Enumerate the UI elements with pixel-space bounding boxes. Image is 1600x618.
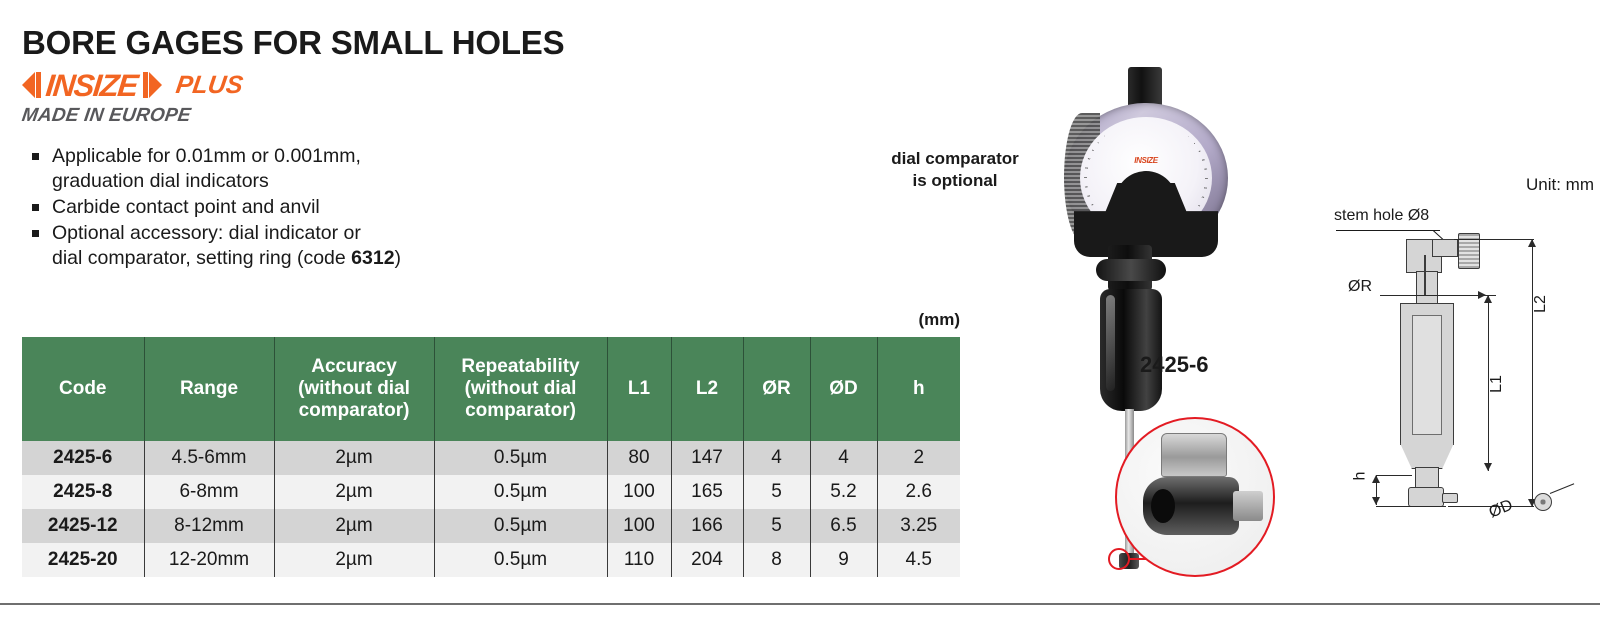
- drawing-stem-arm: [1432, 239, 1458, 257]
- cell-or: 5: [743, 509, 810, 543]
- header-line: comparator): [465, 400, 576, 421]
- table-row: 2425-12 8-12mm 2µm 0.5µm 100 166 5 6.5 3…: [22, 509, 960, 543]
- brand-plus-label: PLUS: [174, 71, 245, 100]
- cell-accuracy: 2µm: [274, 441, 434, 475]
- dimension-or-arrow: [1478, 291, 1486, 299]
- cell-code: 2425-6: [22, 441, 144, 475]
- table-unit-note: (mm): [22, 310, 960, 330]
- cell-repeatability: 0.5µm: [434, 441, 607, 475]
- drawing-unit-note: Unit: mm: [1526, 175, 1594, 195]
- list-item: Applicable for 0.01mm or 0.001mm, gradua…: [30, 144, 982, 194]
- bullet-square-icon: [32, 230, 39, 237]
- cell-l1: 100: [607, 475, 671, 509]
- dimension-label-od: ØD: [1487, 497, 1516, 523]
- list-item: Optional accessory: dial indicator or di…: [30, 221, 982, 271]
- table-body: 2425-6 4.5-6mm 2µm 0.5µm 80 147 4 4 2 24…: [22, 441, 960, 577]
- feature-line: Optional accessory: dial indicator or: [52, 222, 361, 244]
- dimension-label-l1: L1: [1488, 375, 1506, 393]
- dial-comparator-photo: INSIZE: [1056, 67, 1236, 247]
- dial-comparator-note: dial comparator is optional: [870, 148, 1040, 192]
- column-header-accuracy: Accuracy (without dial comparator): [274, 337, 434, 441]
- column-header-l2: L2: [671, 337, 743, 441]
- cell-l2: 147: [671, 441, 743, 475]
- measuring-head-detail-inset: [1115, 417, 1275, 577]
- stem-hole-leader-horizontal: [1336, 230, 1440, 231]
- column-header-repeatability: Repeatability (without dial comparator): [434, 337, 607, 441]
- technical-drawing-panel: Unit: mm stem hole Ø8 L2 L1 ØR h ØD: [1320, 175, 1596, 575]
- table-row: 2425-6 4.5-6mm 2µm 0.5µm 80 147 4 4 2: [22, 441, 960, 475]
- page-title: BORE GAGES FOR SMALL HOLES: [22, 24, 982, 62]
- feature-line: Applicable for 0.01mm or 0.001mm,: [52, 145, 361, 167]
- detail-anvil: [1161, 433, 1227, 477]
- column-header-code: Code: [22, 337, 144, 441]
- cell-l2: 166: [671, 509, 743, 543]
- cell-l2: 165: [671, 475, 743, 509]
- cell-accuracy: 2µm: [274, 543, 434, 577]
- dimension-h-extension-bottom: [1376, 506, 1446, 507]
- cell-repeatability: 0.5µm: [434, 475, 607, 509]
- dimension-l2-extension-top: [1454, 239, 1534, 240]
- detail-neck: [1233, 491, 1263, 521]
- cell-l1: 110: [607, 543, 671, 577]
- dimension-l2-arrow-top: [1528, 239, 1536, 247]
- dimension-h-arrow-top: [1372, 475, 1380, 483]
- logo-wordmark-row: INSIZE PLUS: [22, 68, 322, 102]
- drawing-measuring-head: [1408, 487, 1444, 507]
- feature-line: Carbide contact point and anvil: [52, 196, 320, 218]
- cell-l2: 204: [671, 543, 743, 577]
- list-item: Carbide contact point and anvil: [30, 195, 982, 220]
- table-row: 2425-8 6-8mm 2µm 0.5µm 100 165 5 5.2 2.6: [22, 475, 960, 509]
- gage-handle-highlight: [1106, 295, 1115, 391]
- drawing-stem-slot: [1424, 255, 1426, 295]
- dimension-h-arrow-bottom: [1372, 497, 1380, 505]
- feature-list: Applicable for 0.01mm or 0.001mm, gradua…: [30, 144, 982, 271]
- drawing-body-inner-outline: [1412, 315, 1442, 435]
- feature-line: graduation dial indicators: [52, 170, 269, 192]
- dial-note-line1: dial comparator: [891, 149, 1019, 168]
- header-line: (without dial: [298, 378, 410, 399]
- cell-range: 8-12mm: [144, 509, 274, 543]
- stem-hole-label: stem hole Ø8: [1334, 207, 1429, 225]
- drawing-stem-neck: [1416, 271, 1438, 305]
- product-photo-panel: dial comparator is optional INSIZE 2425-…: [860, 45, 1280, 585]
- dimension-h-extension-top: [1376, 475, 1412, 476]
- header-line: (without dial: [465, 378, 577, 399]
- gage-clamp-ring: [1096, 259, 1166, 281]
- specifications-table: Code Range Accuracy (without dial compar…: [22, 337, 960, 577]
- header-line: Accuracy: [311, 356, 397, 377]
- feature-line: dial comparator, setting ring (code: [52, 247, 351, 269]
- column-header-range: Range: [144, 337, 274, 441]
- brand-name: INSIZE: [44, 70, 138, 101]
- table-header: Code Range Accuracy (without dial compar…: [22, 337, 960, 441]
- cell-repeatability: 0.5µm: [434, 543, 607, 577]
- dial-note-line2: is optional: [913, 171, 998, 190]
- table-row: 2425-20 12-20mm 2µm 0.5µm 110 204 8 9 4.…: [22, 543, 960, 577]
- arrow-left-bar-icon: [36, 72, 41, 98]
- bullet-square-icon: [32, 153, 39, 160]
- dimension-od-leader: [1550, 483, 1575, 494]
- feature-line-end: ): [395, 247, 402, 269]
- dimension-od-section-icon: [1534, 493, 1552, 511]
- page-bottom-divider: [0, 603, 1600, 605]
- dimension-label-or: ØR: [1348, 278, 1372, 296]
- cell-or: 5: [743, 475, 810, 509]
- detail-callout-marker: [1108, 548, 1130, 570]
- column-header-or: ØR: [743, 337, 810, 441]
- cell-accuracy: 2µm: [274, 509, 434, 543]
- arrow-left-icon: [22, 72, 35, 98]
- arrow-right-bar-icon: [143, 72, 148, 98]
- cell-l1: 80: [607, 441, 671, 475]
- dimension-l1-arrow-bottom: [1484, 463, 1492, 471]
- drawing-taper-section: [1400, 443, 1454, 469]
- dimension-label-l2: L2: [1532, 295, 1550, 313]
- drawing-rod: [1415, 467, 1439, 489]
- header-line: comparator): [299, 400, 410, 421]
- left-content-column: BORE GAGES FOR SMALL HOLES INSIZE PLUS M…: [22, 24, 982, 272]
- bullet-square-icon: [32, 204, 39, 211]
- drawing-contact-pin: [1442, 493, 1458, 503]
- cell-range: 12-20mm: [144, 543, 274, 577]
- column-header-l1: L1: [607, 337, 671, 441]
- cell-range: 4.5-6mm: [144, 441, 274, 475]
- product-model-label: 2425-6: [1140, 352, 1209, 378]
- insize-plus-logo: INSIZE PLUS MADE IN EUROPE: [22, 68, 322, 130]
- cell-code: 2425-8: [22, 475, 144, 509]
- cell-or: 4: [743, 441, 810, 475]
- setting-ring-code: 6312: [351, 247, 394, 269]
- cell-or: 8: [743, 543, 810, 577]
- dimension-label-h: h: [1351, 472, 1369, 481]
- header-line: Repeatability: [461, 356, 579, 377]
- cell-l1: 100: [607, 509, 671, 543]
- cell-code: 2425-20: [22, 543, 144, 577]
- cell-accuracy: 2µm: [274, 475, 434, 509]
- dimension-l2-line: [1532, 239, 1533, 507]
- detail-contact-point-slot: [1151, 489, 1175, 523]
- table-header-row: Code Range Accuracy (without dial compar…: [22, 337, 960, 441]
- cell-code: 2425-12: [22, 509, 144, 543]
- brand-tagline: MADE IN EUROPE: [20, 105, 323, 127]
- cell-repeatability: 0.5µm: [434, 509, 607, 543]
- dial-face-brand: INSIZE: [1134, 156, 1157, 165]
- arrow-right-icon: [149, 72, 162, 98]
- cell-range: 6-8mm: [144, 475, 274, 509]
